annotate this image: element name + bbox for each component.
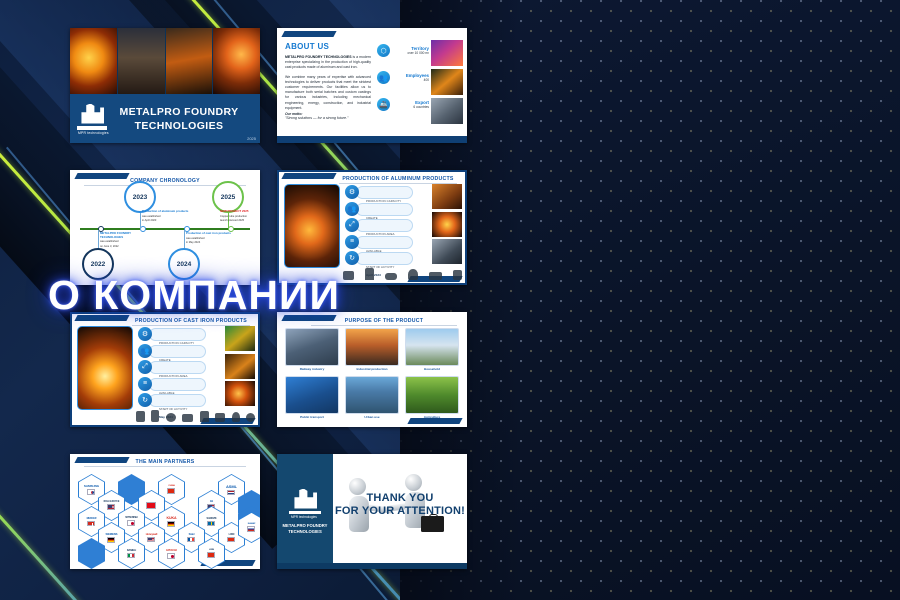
area-icon: ⤢ <box>345 218 359 232</box>
about-image-column <box>431 40 463 127</box>
photo-railway-yard <box>285 328 339 366</box>
partner-hex-hitachi: HITACHI <box>158 538 185 569</box>
slide-thumbnail-chronology[interactable]: COMPANY CHRONOLOGY 2022 METALPRO FOUNDRY… <box>70 170 260 285</box>
create-icon: 👥 <box>138 344 152 358</box>
export-icon: 🚢 <box>377 98 390 111</box>
stat-territory: ⬡ Territory over 10 000 m² <box>377 44 429 57</box>
capacity-icon: ⚙ <box>345 185 359 199</box>
event-title-2024: Production of cast iron products <box>186 232 238 236</box>
purpose-card-agriculture: Agriculture <box>405 376 459 419</box>
slide-deck-panel <box>400 0 900 600</box>
partner-name: SAMSUNG <box>84 484 99 488</box>
photo-machining-shop <box>431 98 463 124</box>
cast-iron-side-images <box>225 326 255 409</box>
heading-underline <box>311 325 457 326</box>
company-logo-icon: MPR technologies <box>287 489 323 519</box>
title-line-1: METALPRO FOUNDRY <box>110 105 248 119</box>
motto-text: "Strong solutions — for a strong future.… <box>285 116 371 120</box>
employees-icon: 👥 <box>377 71 390 84</box>
logo-caption: MPR technologies <box>291 515 317 519</box>
timeline-lead-2024 <box>184 230 185 250</box>
purpose-card-public-transport: Public transport <box>285 376 339 419</box>
start-icon: ↻ <box>345 251 359 265</box>
event-detail-2024-b: in May 2024 <box>186 241 238 244</box>
flag-ch-icon <box>87 521 95 526</box>
flag-fr-icon <box>187 537 195 542</box>
slide-thumbnail-thank-you[interactable]: MPR technologies METALPRO FOUNDRY TECHNO… <box>277 454 467 569</box>
partner-name: Sidel <box>189 533 195 536</box>
photo-pour-closeup <box>225 354 255 379</box>
photo-cast-iron-pour <box>77 326 133 410</box>
row-production-capacity: ⚙ PRODUCTION CAPACITY 60 tons/month <box>138 327 206 342</box>
thankyou-message: THANK YOU FOR YOUR ATTENTION! <box>333 492 467 518</box>
title-year: 2025 <box>247 136 256 141</box>
partner-hex-china-2: LIXIN <box>198 538 225 569</box>
purpose-card-railway: Railway industry <box>285 328 339 371</box>
row-available: ≡ AVAILABLE different types of products <box>138 377 206 392</box>
flag-jp-icon <box>127 520 135 525</box>
cast-iron-stat-rows: ⚙ PRODUCTION CAPACITY 60 tons/month 👥 CR… <box>138 327 206 410</box>
flag-de-icon <box>107 537 115 542</box>
photo-aluminum-billet <box>432 184 462 209</box>
flag-tr-icon <box>146 502 156 509</box>
territory-icon: ⬡ <box>377 44 390 57</box>
slide-title-text: METALPRO FOUNDRY TECHNOLOGIES <box>110 105 260 133</box>
event-title-2025: NEW PROJECT 2025 <box>220 210 258 214</box>
card-caption: Agriculture <box>405 415 459 419</box>
stat-export-value: 6 countries <box>394 105 429 109</box>
event-detail-2022-b: on June 3, 2022 <box>100 245 152 248</box>
flag-se-icon <box>207 521 215 526</box>
photo-furnace-interior <box>166 28 213 94</box>
partner-name: ASML <box>226 484 237 489</box>
event-detail-2023-b: in April 2023 <box>142 219 194 222</box>
slide-bottom-bar <box>277 563 467 569</box>
start-icon: ↻ <box>138 393 152 407</box>
stat-employees-value: 400 <box>394 78 429 82</box>
partners-heading: THE MAIN PARTNERS <box>70 459 260 465</box>
company-logo-icon: MPR technologies <box>76 102 110 136</box>
about-text-block: ABOUT US METALPRO FOUNDRY TECHNOLOGIES i… <box>285 42 371 111</box>
photo-green-field-tractor <box>405 376 459 414</box>
partner-hex-filled-4 <box>78 538 105 569</box>
photo-molten-ring <box>432 212 462 237</box>
row-production-area: ⤢ PRODUCTION AREA 1 500 m² <box>345 218 413 233</box>
flag-jp-icon <box>167 553 175 558</box>
aluminum-stat-rows: ⚙ PRODUCTION CAPACITY 80 tons/month 👥 CR… <box>345 185 413 268</box>
about-motto: Our motto: "Strong solutions — for a str… <box>285 112 371 120</box>
stat-export: 🚢 Export 6 countries <box>377 98 429 111</box>
timeline-lead-2022 <box>98 230 99 250</box>
company-line-1: METALPRO FOUNDRY <box>283 523 328 528</box>
event-title-2022: METALPRO FOUNDRY TECHNOLOGIES <box>100 232 152 239</box>
title-bar: MPR technologies METALPRO FOUNDRY TECHNO… <box>70 94 260 143</box>
photo-molten-splash <box>431 40 463 66</box>
partner-name: SIEMENS <box>106 532 118 536</box>
thankyou-company-name: METALPRO FOUNDRY TECHNOLOGIES <box>283 523 328 535</box>
about-heading: ABOUT US <box>285 42 371 51</box>
partner-name: GE <box>210 501 213 503</box>
flag-ru-icon <box>247 526 255 531</box>
flag-cn-icon <box>207 552 215 557</box>
photo-city-riverfront <box>345 376 399 414</box>
slide-bottom-bar <box>277 136 467 143</box>
slide-thumbnail-purpose[interactable]: PURPOSE OF THE PRODUCT Railway industry … <box>277 312 467 427</box>
timeline-event-2023: Production of aluminum products was esta… <box>142 210 194 222</box>
aluminum-parts-tray <box>343 264 462 280</box>
card-caption: Railway industry <box>285 367 339 371</box>
briefcase-icon <box>421 516 444 532</box>
slide-thumbnail-partners[interactable]: THE MAIN PARTNERS SAMSUNG ROLLS-ROYCE <box>70 454 260 569</box>
card-caption: Public transport <box>285 415 339 419</box>
thankyou-line-1: THANK YOU <box>367 492 434 504</box>
photo-molten-metal-pour <box>70 28 117 94</box>
figure-head <box>405 474 422 491</box>
capacity-icon: ⚙ <box>138 327 152 341</box>
event-detail-2024-a: was established <box>186 237 238 240</box>
thankyou-line-2: FOR YOUR ATTENTION! <box>335 505 465 517</box>
corner-accent-top-left <box>281 173 336 179</box>
card-caption: Household <box>405 367 459 371</box>
flag-cn-icon <box>227 537 235 542</box>
title-photo-strip <box>70 28 260 94</box>
corner-accent-top-left <box>281 31 336 37</box>
partner-name: KAMAZ <box>248 523 255 525</box>
photo-molten-stream <box>225 381 255 406</box>
event-detail-2023-a: was established <box>142 215 194 218</box>
cast-iron-parts-tray <box>136 406 255 422</box>
partner-hex-kamaz: KAMAZ <box>238 512 260 543</box>
create-icon: 👥 <box>345 202 359 216</box>
partner-name: HITACHI <box>166 548 176 552</box>
photo-castings-rack <box>432 239 462 264</box>
partner-name: SANDVIK <box>206 517 216 520</box>
slide-thumbnail-title[interactable]: MPR technologies METALPRO FOUNDRY TECHNO… <box>70 28 260 143</box>
photo-country-house <box>405 328 459 366</box>
timeline-axis <box>80 228 250 230</box>
timeline-event-2024: Production of cast iron products was est… <box>186 232 238 244</box>
available-icon: ≡ <box>138 377 152 391</box>
logo-caption: MPR technologies <box>78 131 109 135</box>
stat-territory-value: over 10 000 m² <box>394 51 429 55</box>
slide-thumbnail-aluminum[interactable]: PRODUCTION OF ALUMINUM PRODUCTS ⚙ PRODUC… <box>277 170 467 285</box>
about-company-name: METALPRO FOUNDRY TECHNOLOGIES <box>285 55 352 59</box>
partner-name: MITSUBISHI <box>125 517 137 519</box>
purpose-card-urban: Urban use <box>345 376 399 419</box>
partner-name: DANIELI <box>127 549 136 552</box>
flag-us-icon <box>147 537 155 542</box>
card-caption: Industrial production <box>345 367 399 371</box>
stat-employees: 👥 Employees 400 <box>377 71 429 84</box>
page-title: О КОМПАНИИ <box>48 272 340 319</box>
photo-ladle-pouring <box>213 28 260 94</box>
purpose-card-household: Household <box>405 328 459 371</box>
row-available: ≡ AVAILABLE different types of products <box>345 235 413 250</box>
photo-blue-tram <box>285 376 339 414</box>
photo-foundry-hall <box>118 28 165 94</box>
row-production-capacity: ⚙ PRODUCTION CAPACITY 80 tons/month <box>345 185 413 200</box>
partner-name: LIXIN <box>209 549 214 551</box>
available-icon: ≡ <box>345 235 359 249</box>
photo-industrial-stacks <box>345 328 399 366</box>
flag-us-icon <box>107 504 115 509</box>
heading-underline <box>84 466 246 467</box>
flag-nl-icon <box>227 490 235 495</box>
timeline-event-2022: METALPRO FOUNDRY TECHNOLOGIES was establ… <box>100 232 152 248</box>
slide-thumbnail-cast-iron[interactable]: PRODUCTION OF CAST IRON PRODUCTS ⚙ PRODU… <box>70 312 260 427</box>
event-detail-2022-a: was established <box>100 240 152 243</box>
about-stats-list: ⬡ Territory over 10 000 m² 👥 Employees 4… <box>377 44 429 125</box>
partner-name: Honeywell <box>146 533 157 536</box>
company-line-2: TECHNOLOGIES <box>288 529 322 534</box>
about-paragraph-1: METALPRO FOUNDRY TECHNOLOGIES is a moder… <box>285 55 371 71</box>
event-title-2023: Production of aluminum products <box>142 210 194 214</box>
event-detail-2025-a: Copper tube production <box>220 215 258 218</box>
thankyou-logo-panel: MPR technologies METALPRO FOUNDRY TECHNO… <box>277 454 333 569</box>
partner-name: MERCER <box>87 517 97 520</box>
partner-hex-grid: SAMSUNG ROLLS-ROYCE CHINA <box>74 468 256 565</box>
photo-green-sparks <box>225 326 255 351</box>
partner-name: KUKA <box>167 516 177 520</box>
row-create: 👥 CREATE 85 workplaces <box>345 202 413 217</box>
card-caption: Urban use <box>345 415 399 419</box>
about-paragraph-2: We combine many years of expertise with … <box>285 75 371 111</box>
slide-thumbnail-about-us[interactable]: ABOUT US METALPRO FOUNDRY TECHNOLOGIES i… <box>277 28 467 143</box>
row-production-area: ⤢ PRODUCTION AREA 1 200 m² <box>138 360 206 375</box>
partner-name: LIXIN <box>229 533 235 536</box>
flag-de-icon <box>167 521 175 526</box>
row-create: 👥 CREATE 70 workplaces <box>138 344 206 359</box>
flag-it-icon <box>127 553 135 558</box>
partner-hex-danieli: DANIELI <box>118 538 145 569</box>
photo-furnace-work <box>431 69 463 95</box>
flag-cn-icon <box>167 488 175 493</box>
photo-aluminum-pour <box>284 184 340 268</box>
timeline-event-2025: NEW PROJECT 2025 Copper tube production … <box>220 210 258 222</box>
title-line-2: TECHNOLOGIES <box>110 119 248 133</box>
aluminum-heading: PRODUCTION OF ALUMINUM PRODUCTS <box>333 176 463 182</box>
flag-kr-icon <box>87 489 95 494</box>
partner-name: ROLLS-ROYCE <box>104 501 120 503</box>
event-detail-2025-b: launch planned 2025 <box>220 219 258 222</box>
aluminum-side-images <box>432 184 462 267</box>
thankyou-stage: THANK YOU FOR YOUR ATTENTION! <box>333 454 467 569</box>
area-icon: ⤢ <box>138 360 152 374</box>
partner-name: CHINA <box>168 485 174 487</box>
purpose-card-grid: Railway industry Industrial production H… <box>285 328 459 419</box>
purpose-card-industrial: Industrial production <box>345 328 399 371</box>
